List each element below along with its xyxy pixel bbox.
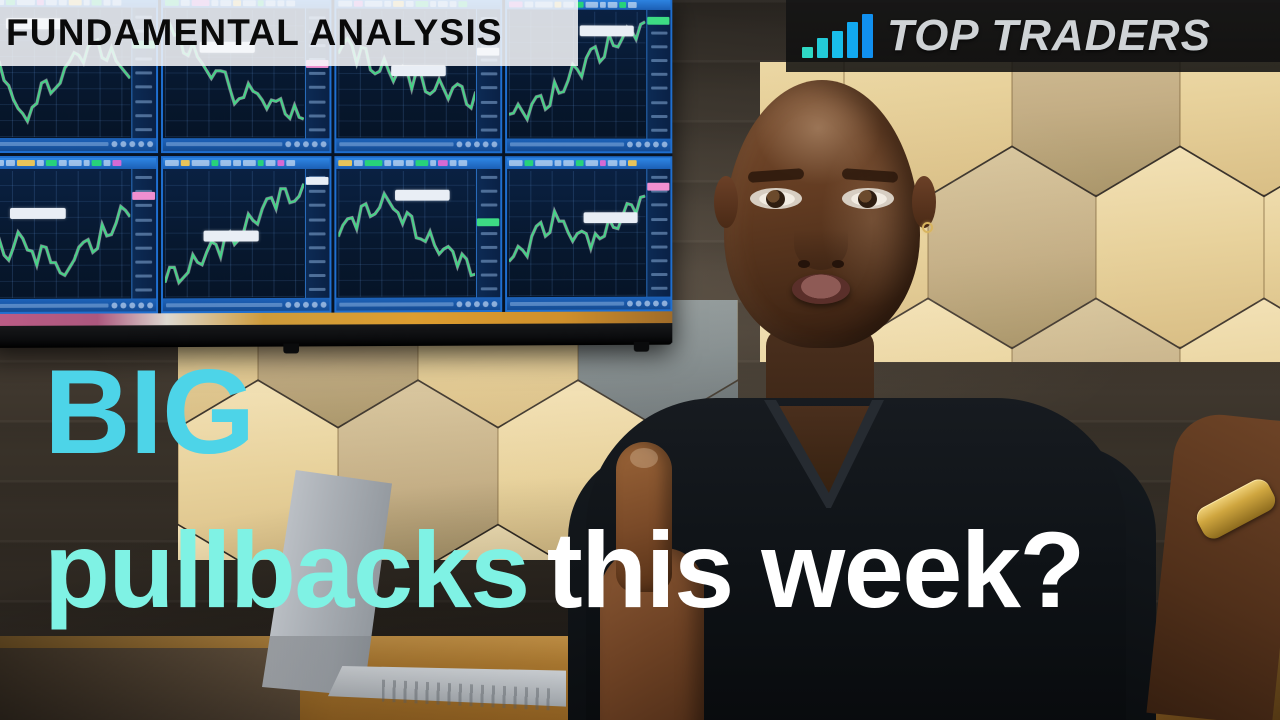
chart-panel-toolbar	[336, 297, 501, 310]
chart-panel	[161, 156, 331, 314]
axis-tick-label	[309, 204, 326, 207]
toolbar-field	[339, 142, 454, 146]
chart-panel-titlebar	[336, 158, 501, 169]
axis-tick-label	[309, 288, 326, 291]
titlebar-chip	[628, 2, 637, 8]
axis-tick-label	[309, 274, 326, 277]
chart-panel-toolbar	[163, 138, 329, 151]
price-callout-label	[580, 25, 634, 36]
headline-word-big: BIG	[44, 345, 254, 479]
nose	[794, 218, 848, 270]
toolbar-icon	[474, 301, 480, 307]
last-price-tag	[477, 218, 499, 226]
logo-bar	[832, 31, 843, 58]
titlebar-chip	[112, 160, 121, 166]
toolbar-icon	[129, 141, 135, 147]
titlebar-chip	[265, 160, 275, 166]
ear-left	[714, 176, 738, 228]
chart-panel	[0, 156, 158, 315]
titlebar-chip	[620, 1, 627, 7]
last-price-tag	[132, 191, 155, 199]
ear-right	[912, 176, 936, 228]
toolbar-icon	[285, 301, 291, 307]
price-callout-label	[395, 189, 450, 200]
titlebar-chip	[84, 160, 90, 166]
titlebar-chip	[46, 160, 57, 166]
axis-tick-label	[136, 128, 153, 131]
toolbar-icon	[147, 302, 153, 308]
toolbar-icon	[147, 141, 153, 147]
axis-tick-label	[136, 72, 153, 75]
toolbar-icon	[285, 141, 291, 147]
toolbar-field	[0, 142, 108, 146]
category-banner-label: FUNDAMENTAL ANALYSIS	[0, 12, 503, 54]
last-price-tag	[305, 176, 328, 184]
titlebar-chip	[211, 160, 218, 166]
toolbar-icon	[465, 301, 471, 307]
chart-price-axis	[131, 169, 156, 300]
titlebar-chip	[555, 160, 562, 166]
toolbar-icon	[474, 141, 480, 147]
toolbar-icon	[311, 141, 317, 147]
axis-tick-label	[481, 176, 498, 179]
titlebar-chip	[104, 160, 111, 166]
titlebar-chip	[69, 160, 82, 166]
chart-panel-titlebar	[163, 158, 329, 169]
titlebar-chip	[37, 160, 44, 166]
logo-bar	[862, 14, 873, 58]
chart-panel-toolbar	[336, 138, 501, 151]
axis-tick-label	[309, 260, 326, 263]
last-price-tag	[647, 17, 669, 25]
axis-tick-label	[481, 246, 498, 249]
titlebar-chip	[0, 160, 4, 166]
axis-tick-label	[309, 100, 326, 103]
toolbar-icon	[138, 141, 144, 147]
titlebar-chip	[405, 160, 413, 166]
titlebar-chip	[449, 160, 456, 166]
toolbar-icon	[129, 302, 135, 308]
titlebar-chip	[286, 160, 295, 166]
titlebar-chip	[525, 160, 534, 166]
mouth	[792, 274, 850, 304]
titlebar-chip	[600, 1, 606, 7]
price-callout-label	[10, 207, 66, 218]
chart-price-axis	[476, 169, 500, 299]
titlebar-chip	[458, 160, 467, 166]
titlebar-chip	[576, 160, 584, 166]
titlebar-chip	[191, 160, 209, 166]
axis-tick-label	[309, 232, 326, 235]
gold-earring	[922, 222, 933, 233]
chart-line-series	[0, 170, 130, 297]
toolbar-field	[166, 302, 282, 306]
titlebar-chip	[243, 160, 256, 166]
axis-tick-label	[481, 260, 498, 263]
axis-tick-label	[136, 232, 153, 235]
axis-tick-label	[481, 128, 498, 131]
chart-panel	[334, 156, 503, 313]
eye-right	[842, 188, 894, 209]
toolbar-icon	[492, 141, 498, 147]
titlebar-chip	[59, 160, 67, 166]
titlebar-chip	[338, 160, 352, 166]
head	[724, 80, 920, 348]
toolbar-icon	[457, 301, 463, 307]
toolbar-icon	[294, 301, 300, 307]
toolbar-icon	[111, 141, 117, 147]
toolbar-icon	[120, 302, 126, 308]
price-callout-label	[391, 65, 446, 76]
titlebar-chip	[220, 160, 231, 166]
axis-tick-label	[136, 100, 153, 103]
toolbar-icon	[320, 301, 326, 307]
axis-tick-label	[481, 114, 498, 117]
axis-tick-label	[309, 86, 326, 89]
toolbar-icon	[483, 141, 489, 147]
toolbar-field	[166, 142, 282, 146]
axis-tick-label	[136, 114, 153, 117]
titlebar-chip	[415, 160, 428, 166]
axis-tick-label	[309, 128, 326, 131]
chart-panel-toolbar	[0, 298, 156, 312]
axis-tick-label	[136, 86, 153, 89]
chart-panel-toolbar	[163, 298, 329, 312]
toolbar-icon	[302, 141, 308, 147]
axis-tick-label	[136, 204, 153, 207]
toolbar-icon	[457, 141, 463, 147]
toolbar-icon	[465, 141, 471, 147]
titlebar-chip	[608, 1, 618, 7]
titlebar-chip	[586, 1, 599, 7]
axis-tick-label	[481, 100, 498, 103]
headline-line-1: BIG	[44, 352, 1244, 472]
toolbar-icon	[294, 141, 300, 147]
axis-tick-label	[481, 87, 498, 90]
toolbar-icon	[120, 141, 126, 147]
axis-tick-label	[136, 289, 153, 292]
headline: BIG pullbacksthis week?	[44, 352, 1244, 624]
titlebar-chip	[364, 160, 382, 166]
titlebar-chip	[17, 160, 35, 166]
titlebar-chip	[258, 160, 264, 166]
toolbar-icon	[111, 302, 117, 308]
toolbar-field	[339, 302, 454, 306]
titlebar-chip	[393, 160, 404, 166]
axis-tick-label	[481, 204, 498, 207]
axis-tick-label	[136, 247, 153, 250]
titlebar-chip	[92, 160, 102, 166]
chart-price-axis	[304, 169, 329, 299]
toolbar-icon	[492, 301, 498, 307]
headline-line-2: pullbacksthis week?	[44, 516, 1244, 624]
titlebar-chip	[437, 160, 447, 166]
titlebar-chip	[233, 160, 241, 166]
logo-bar	[802, 47, 813, 58]
headline-word-pullbacks: pullbacks	[44, 509, 529, 630]
category-banner: FUNDAMENTAL ANALYSIS	[0, 0, 578, 66]
titlebar-chip	[535, 160, 552, 166]
titlebar-chip	[384, 160, 391, 166]
eye-left	[750, 188, 802, 209]
titlebar-chip	[277, 160, 284, 166]
titlebar-chip	[181, 160, 190, 166]
axis-tick-label	[481, 190, 498, 193]
toolbar-icon	[302, 301, 308, 307]
axis-tick-label	[309, 190, 326, 193]
price-callout-label	[203, 230, 258, 241]
logo-bar	[817, 38, 828, 58]
titlebar-chip	[353, 160, 362, 166]
axis-tick-label	[651, 31, 667, 34]
axis-tick-label	[481, 274, 498, 277]
titlebar-chip	[564, 160, 575, 166]
brand-name-label: TOP TRADERS	[887, 11, 1211, 61]
axis-tick-label	[481, 73, 498, 76]
chart-panel-titlebar	[0, 158, 156, 169]
titlebar-chip	[430, 160, 436, 166]
headline-word-this-week: this week?	[547, 509, 1084, 630]
toolbar-field	[0, 303, 108, 307]
titlebar-chip	[6, 160, 15, 166]
toolbar-icon	[138, 302, 144, 308]
axis-tick-label	[309, 72, 326, 75]
axis-tick-label	[309, 218, 326, 221]
chart-panel-toolbar	[0, 138, 156, 151]
video-thumbnail: FUNDAMENTAL ANALYSIS TOP TRADERS BIG pul…	[0, 0, 1280, 720]
logo-bar	[847, 22, 858, 58]
bar-chart-icon	[802, 14, 873, 58]
axis-tick-label	[481, 288, 498, 291]
toolbar-icon	[311, 301, 317, 307]
axis-tick-label	[136, 176, 153, 179]
axis-tick-label	[136, 218, 153, 221]
axis-tick-label	[309, 246, 326, 249]
toolbar-icon	[320, 141, 326, 147]
brand-logo-banner: TOP TRADERS	[786, 0, 1280, 72]
axis-tick-label	[481, 232, 498, 235]
titlebar-chip	[165, 160, 179, 166]
titlebar-chip	[509, 160, 523, 166]
axis-tick-label	[309, 114, 326, 117]
axis-tick-label	[136, 275, 153, 278]
axis-tick-label	[136, 261, 153, 264]
toolbar-icon	[483, 301, 489, 307]
